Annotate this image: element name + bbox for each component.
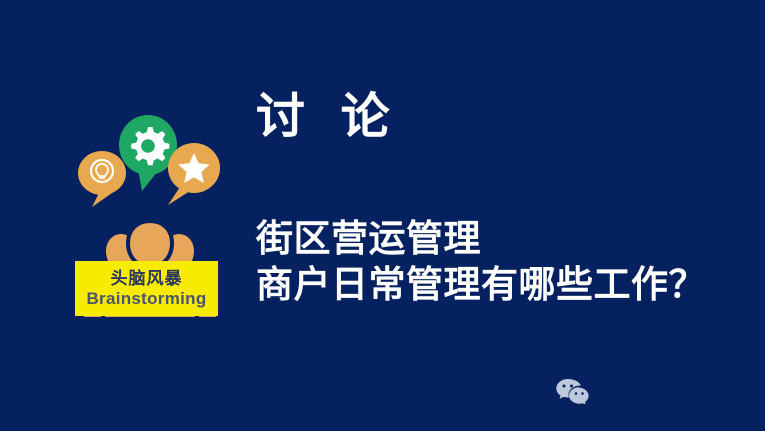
bubble-right	[168, 143, 220, 205]
brainstorming-badge: 头脑风暴 Brainstorming	[75, 261, 218, 316]
question-line-1: 街区营运管理	[256, 216, 756, 262]
gear-icon	[131, 127, 169, 165]
presentation-slide: 头脑风暴 Brainstorming 讨 论 街区营运管理 商户日常管理有哪些工…	[0, 0, 765, 431]
question-block: 街区营运管理 商户日常管理有哪些工作？	[256, 216, 756, 307]
bubble-center	[119, 115, 177, 191]
wechat-watermark	[556, 378, 596, 409]
question-line-2: 商户日常管理有哪些工作？	[256, 262, 756, 308]
badge-label-chinese: 头脑风暴	[111, 270, 183, 287]
wechat-icon	[556, 378, 590, 409]
badge-label-english: Brainstorming	[86, 290, 206, 307]
bubble-left	[78, 151, 126, 207]
page-title: 讨 论	[256, 91, 401, 145]
